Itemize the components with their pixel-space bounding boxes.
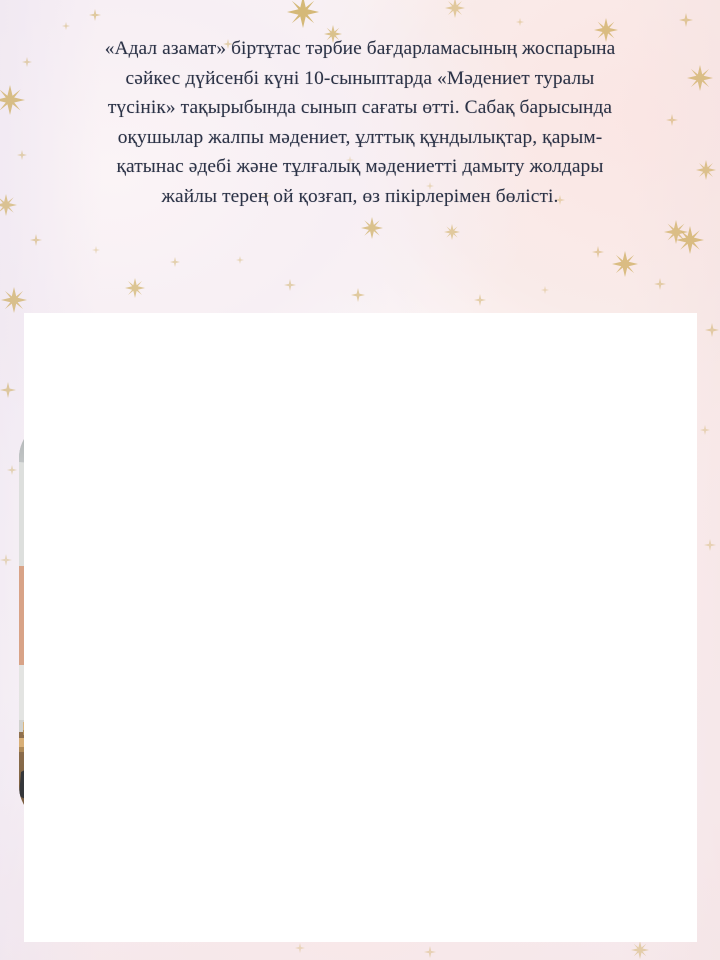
- slide-page: «Адал азамат» біртұтас тәрбие бағдарлама…: [0, 0, 720, 960]
- white-content-card: [24, 313, 697, 942]
- headline-line-5: қатынас әдебі және тұлғалық мәдениетті д…: [117, 156, 604, 177]
- headline-line-1: «Адал азамат» біртұтас тәрбие бағдарлама…: [105, 38, 616, 59]
- headline-line-3: түсінік» тақырыбында сынып сағаты өтті. …: [108, 97, 612, 118]
- headline-line-4: оқушылар жалпы мәдениет, ұлттық құндылық…: [118, 127, 603, 148]
- headline-line-6: жайлы терең ой қозғап, өз пікірлерімен б…: [162, 186, 559, 207]
- headline-line-2: сәйкес дүйсенбі күні 10-сыныптарда «Мәде…: [126, 68, 595, 89]
- headline-text: «Адал азамат» біртұтас тәрбие бағдарлама…: [34, 34, 686, 211]
